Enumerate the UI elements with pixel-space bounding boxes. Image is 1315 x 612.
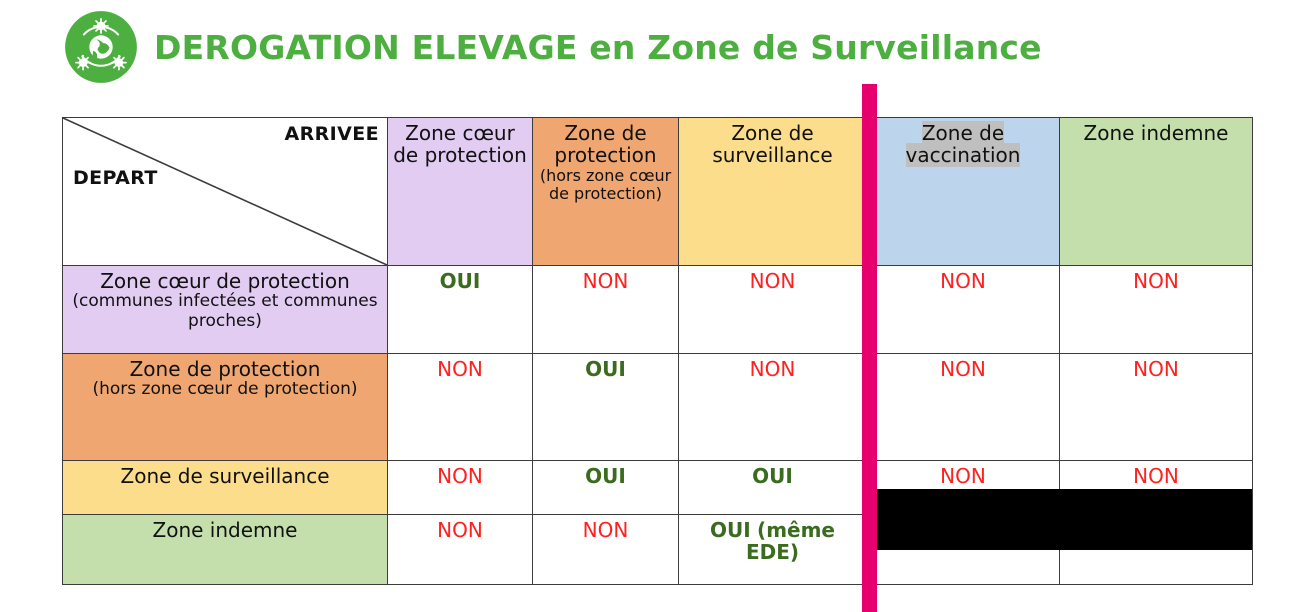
table-row: Zone cœur de protection (communes infect… [63, 266, 1253, 354]
cell-value: NON [940, 464, 986, 488]
arrivee-label: ARRIVEE [285, 124, 380, 145]
cell-r2c5: NON [1060, 354, 1253, 461]
column-header-label: Zone de surveillance [712, 121, 832, 167]
cell-value: OUI [440, 269, 481, 293]
cell-value: NON [437, 357, 483, 381]
column-header-label: Zone de protection [554, 121, 656, 167]
cell-note: (même EDE) [746, 518, 835, 564]
cell-r2c1: NON [388, 354, 533, 461]
cell-value: NON [940, 357, 986, 381]
cell-r1c4: NON [867, 266, 1060, 354]
cell-value: NON [583, 518, 629, 542]
cell-value: NON [437, 464, 483, 488]
column-header-surveillance: Zone de surveillance [679, 118, 867, 266]
table-row: Zone de protection (hors zone cœur de pr… [63, 354, 1253, 461]
cell-value: NON [1133, 269, 1179, 293]
row-header-protection: Zone de protection (hors zone cœur de pr… [63, 354, 388, 461]
cell-r1c3: NON [679, 266, 867, 354]
cell-r1c1: OUI [388, 266, 533, 354]
column-header-coeur-de-protection: Zone cœur de protection [388, 118, 533, 266]
cell-value: OUI [585, 357, 626, 381]
row-header-indemne: Zone indemne [63, 515, 388, 585]
black-redaction-block [877, 489, 1252, 550]
cell-value: NON [437, 518, 483, 542]
column-header-label: Zone indemne [1084, 121, 1229, 145]
cell-value: OUI [752, 464, 793, 488]
column-header-vaccination: Zone de vaccination [867, 118, 1060, 266]
cell-value: NON [1133, 357, 1179, 381]
column-header-sub: (hors zone cœur de protection) [536, 167, 675, 204]
row-header-sub: (hors zone cœur de protection) [66, 380, 384, 400]
row-header-label: Zone de surveillance [121, 464, 330, 488]
globe-virus-icon [62, 8, 140, 86]
cell-r2c4: NON [867, 354, 1060, 461]
cell-r4c3: OUI (même EDE) [679, 515, 867, 585]
cell-value: OUI [585, 464, 626, 488]
column-header-label: Zone de vaccination [906, 121, 1021, 167]
row-header-label: Zone de protection [130, 357, 321, 381]
cell-value: NON [583, 269, 629, 293]
column-header-indemne: Zone indemne [1060, 118, 1253, 266]
cell-value: OUI [710, 518, 751, 542]
cell-r2c3: NON [679, 354, 867, 461]
matrix-corner-cell: ARRIVEE DEPART [63, 118, 388, 266]
pink-vertical-marker [862, 84, 877, 612]
cell-r4c2: NON [533, 515, 679, 585]
matrix-header-row: ARRIVEE DEPART Zone cœur de protection Z… [63, 118, 1253, 266]
cell-r2c2: OUI [533, 354, 679, 461]
cell-r4c1: NON [388, 515, 533, 585]
column-header-label: Zone cœur de protection [393, 121, 527, 167]
cell-r3c2: OUI [533, 461, 679, 515]
row-header-coeur-de-protection: Zone cœur de protection (communes infect… [63, 266, 388, 354]
cell-r1c2: NON [533, 266, 679, 354]
row-header-label: Zone indemne [153, 518, 298, 542]
cell-value: NON [750, 269, 796, 293]
cell-r3c1: NON [388, 461, 533, 515]
cell-value: NON [1133, 464, 1179, 488]
page-title: DEROGATION ELEVAGE en Zone de Surveillan… [154, 28, 1042, 67]
cell-r1c5: NON [1060, 266, 1253, 354]
row-header-label: Zone cœur de protection [100, 269, 350, 293]
page-header: DEROGATION ELEVAGE en Zone de Surveillan… [62, 8, 1042, 86]
cell-value: NON [750, 357, 796, 381]
column-header-protection: Zone de protection (hors zone cœur de pr… [533, 118, 679, 266]
cell-value: NON [940, 269, 986, 293]
depart-label: DEPART [73, 168, 158, 189]
row-header-surveillance: Zone de surveillance [63, 461, 388, 515]
cell-r3c3: OUI [679, 461, 867, 515]
row-header-sub: (communes infectées et communes proches) [66, 292, 384, 331]
